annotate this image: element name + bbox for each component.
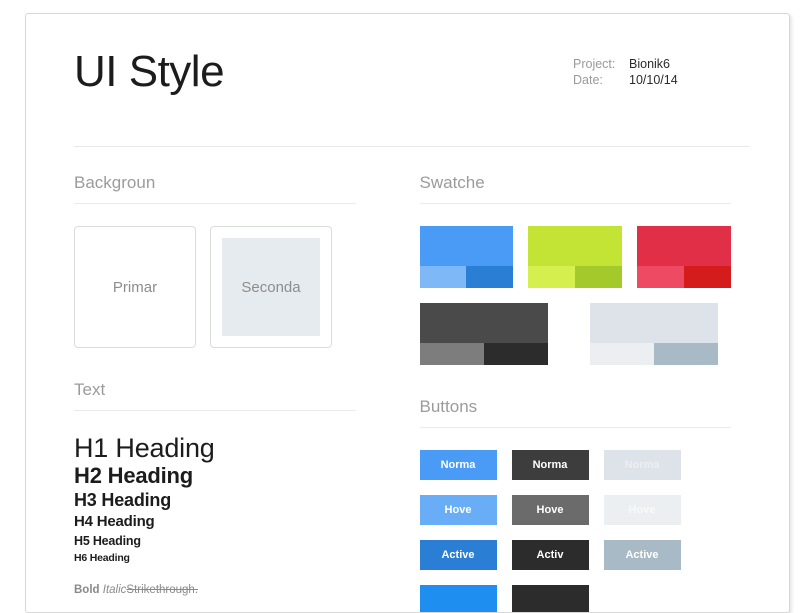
button-hover-primary[interactable]: Hove	[420, 495, 497, 525]
button-active-muted[interactable]: Active	[604, 540, 681, 570]
background-swatch-row: Primar Seconda	[74, 226, 356, 348]
section-divider-buttons	[420, 427, 732, 428]
section-title-text: Text	[74, 380, 356, 400]
heading-sample-h6: H6 Heading	[74, 550, 356, 566]
inline-style-samples: Bold ItalicStrikethrough.	[74, 584, 356, 596]
section-title-swatches: Swatche	[420, 173, 732, 193]
swatch-row-1	[420, 226, 732, 288]
button-normal-muted[interactable]: Norma	[604, 450, 681, 480]
project-value: Bionik6	[629, 56, 703, 72]
page-content: UI Style Project: Date: Bionik6 10/10/14…	[26, 14, 789, 613]
section-divider-text	[74, 410, 356, 411]
header-divider	[74, 146, 749, 147]
button-normal-dark[interactable]: Norma	[512, 450, 589, 480]
button-active-primary[interactable]: Active	[420, 540, 497, 570]
content-columns: Backgroun Primar Seconda Text	[74, 173, 749, 613]
section-divider-swatches	[420, 203, 732, 204]
left-column: Backgroun Primar Seconda Text	[74, 173, 412, 613]
section-title-buttons: Buttons	[420, 397, 732, 417]
background-box-secondary[interactable]: Seconda	[210, 226, 332, 348]
swatch-dark-gray-dark	[484, 343, 548, 365]
button-partial-primary[interactable]	[420, 585, 497, 613]
swatch-lime-dark	[575, 266, 622, 288]
swatch-blue-dark	[466, 266, 513, 288]
section-text: Text H1 Heading H2 Heading H3 Heading H4…	[74, 380, 356, 613]
heading-sample-h4: H4 Heading	[74, 512, 356, 532]
swatch-blue[interactable]	[420, 226, 514, 288]
swatch-lime[interactable]	[528, 226, 622, 288]
button-row-hover: Hove Hove Hove	[420, 495, 732, 525]
background-box-secondary-label: Seconda	[241, 279, 300, 296]
date-value: 10/10/14	[629, 72, 703, 88]
button-row-partial	[420, 585, 732, 613]
section-buttons: Buttons Norma Norma Norma Hove Hove Hove…	[420, 397, 732, 613]
heading-sample-h2: H2 Heading	[74, 463, 356, 489]
heading-sample-h1: H1 Heading	[74, 433, 356, 463]
strikethrough-sample: Strikethrough.	[126, 584, 198, 596]
swatch-dark-gray[interactable]	[420, 303, 548, 365]
section-divider-background	[74, 203, 356, 204]
swatch-red-dark	[684, 266, 731, 288]
project-label: Project:	[573, 56, 629, 72]
meta-values: Bionik6 10/10/14	[629, 56, 703, 88]
swatch-light-gray-dark	[654, 343, 718, 365]
meta-labels: Project: Date:	[573, 56, 629, 88]
swatch-lime-light	[528, 266, 575, 288]
swatch-row-2	[420, 303, 732, 365]
button-row-normal: Norma Norma Norma	[420, 450, 732, 480]
background-box-primary[interactable]: Primar	[74, 226, 196, 348]
button-active-dark[interactable]: Activ	[512, 540, 589, 570]
italic-sample: Italic	[103, 584, 127, 596]
swatch-dark-gray-light	[420, 343, 484, 365]
section-title-background: Backgroun	[74, 173, 356, 193]
section-background: Backgroun Primar Seconda	[74, 173, 356, 348]
swatch-red-light	[637, 266, 684, 288]
button-normal-primary[interactable]: Norma	[420, 450, 497, 480]
swatch-light-gray[interactable]	[590, 303, 718, 365]
swatch-red[interactable]	[637, 226, 731, 288]
date-label: Date:	[573, 72, 629, 88]
button-hover-muted[interactable]: Hove	[604, 495, 681, 525]
bold-sample: Bold	[74, 584, 100, 596]
right-column: Swatche	[412, 173, 750, 613]
heading-sample-h5: H5 Heading	[74, 532, 356, 550]
swatch-row-2-gap	[563, 303, 575, 365]
document-meta: Project: Date: Bionik6 10/10/14	[573, 56, 703, 88]
section-swatches: Swatche	[420, 173, 732, 365]
heading-sample-h3: H3 Heading	[74, 489, 356, 512]
button-hover-dark[interactable]: Hove	[512, 495, 589, 525]
swatch-light-gray-light	[590, 343, 654, 365]
button-row-active: Active Activ Active	[420, 540, 732, 570]
button-partial-dark[interactable]	[512, 585, 589, 613]
document-header: UI Style Project: Date: Bionik6 10/10/14	[74, 50, 749, 132]
swatch-blue-light	[420, 266, 467, 288]
background-box-primary-label: Primar	[113, 279, 157, 296]
style-guide-page: UI Style Project: Date: Bionik6 10/10/14…	[25, 13, 790, 613]
